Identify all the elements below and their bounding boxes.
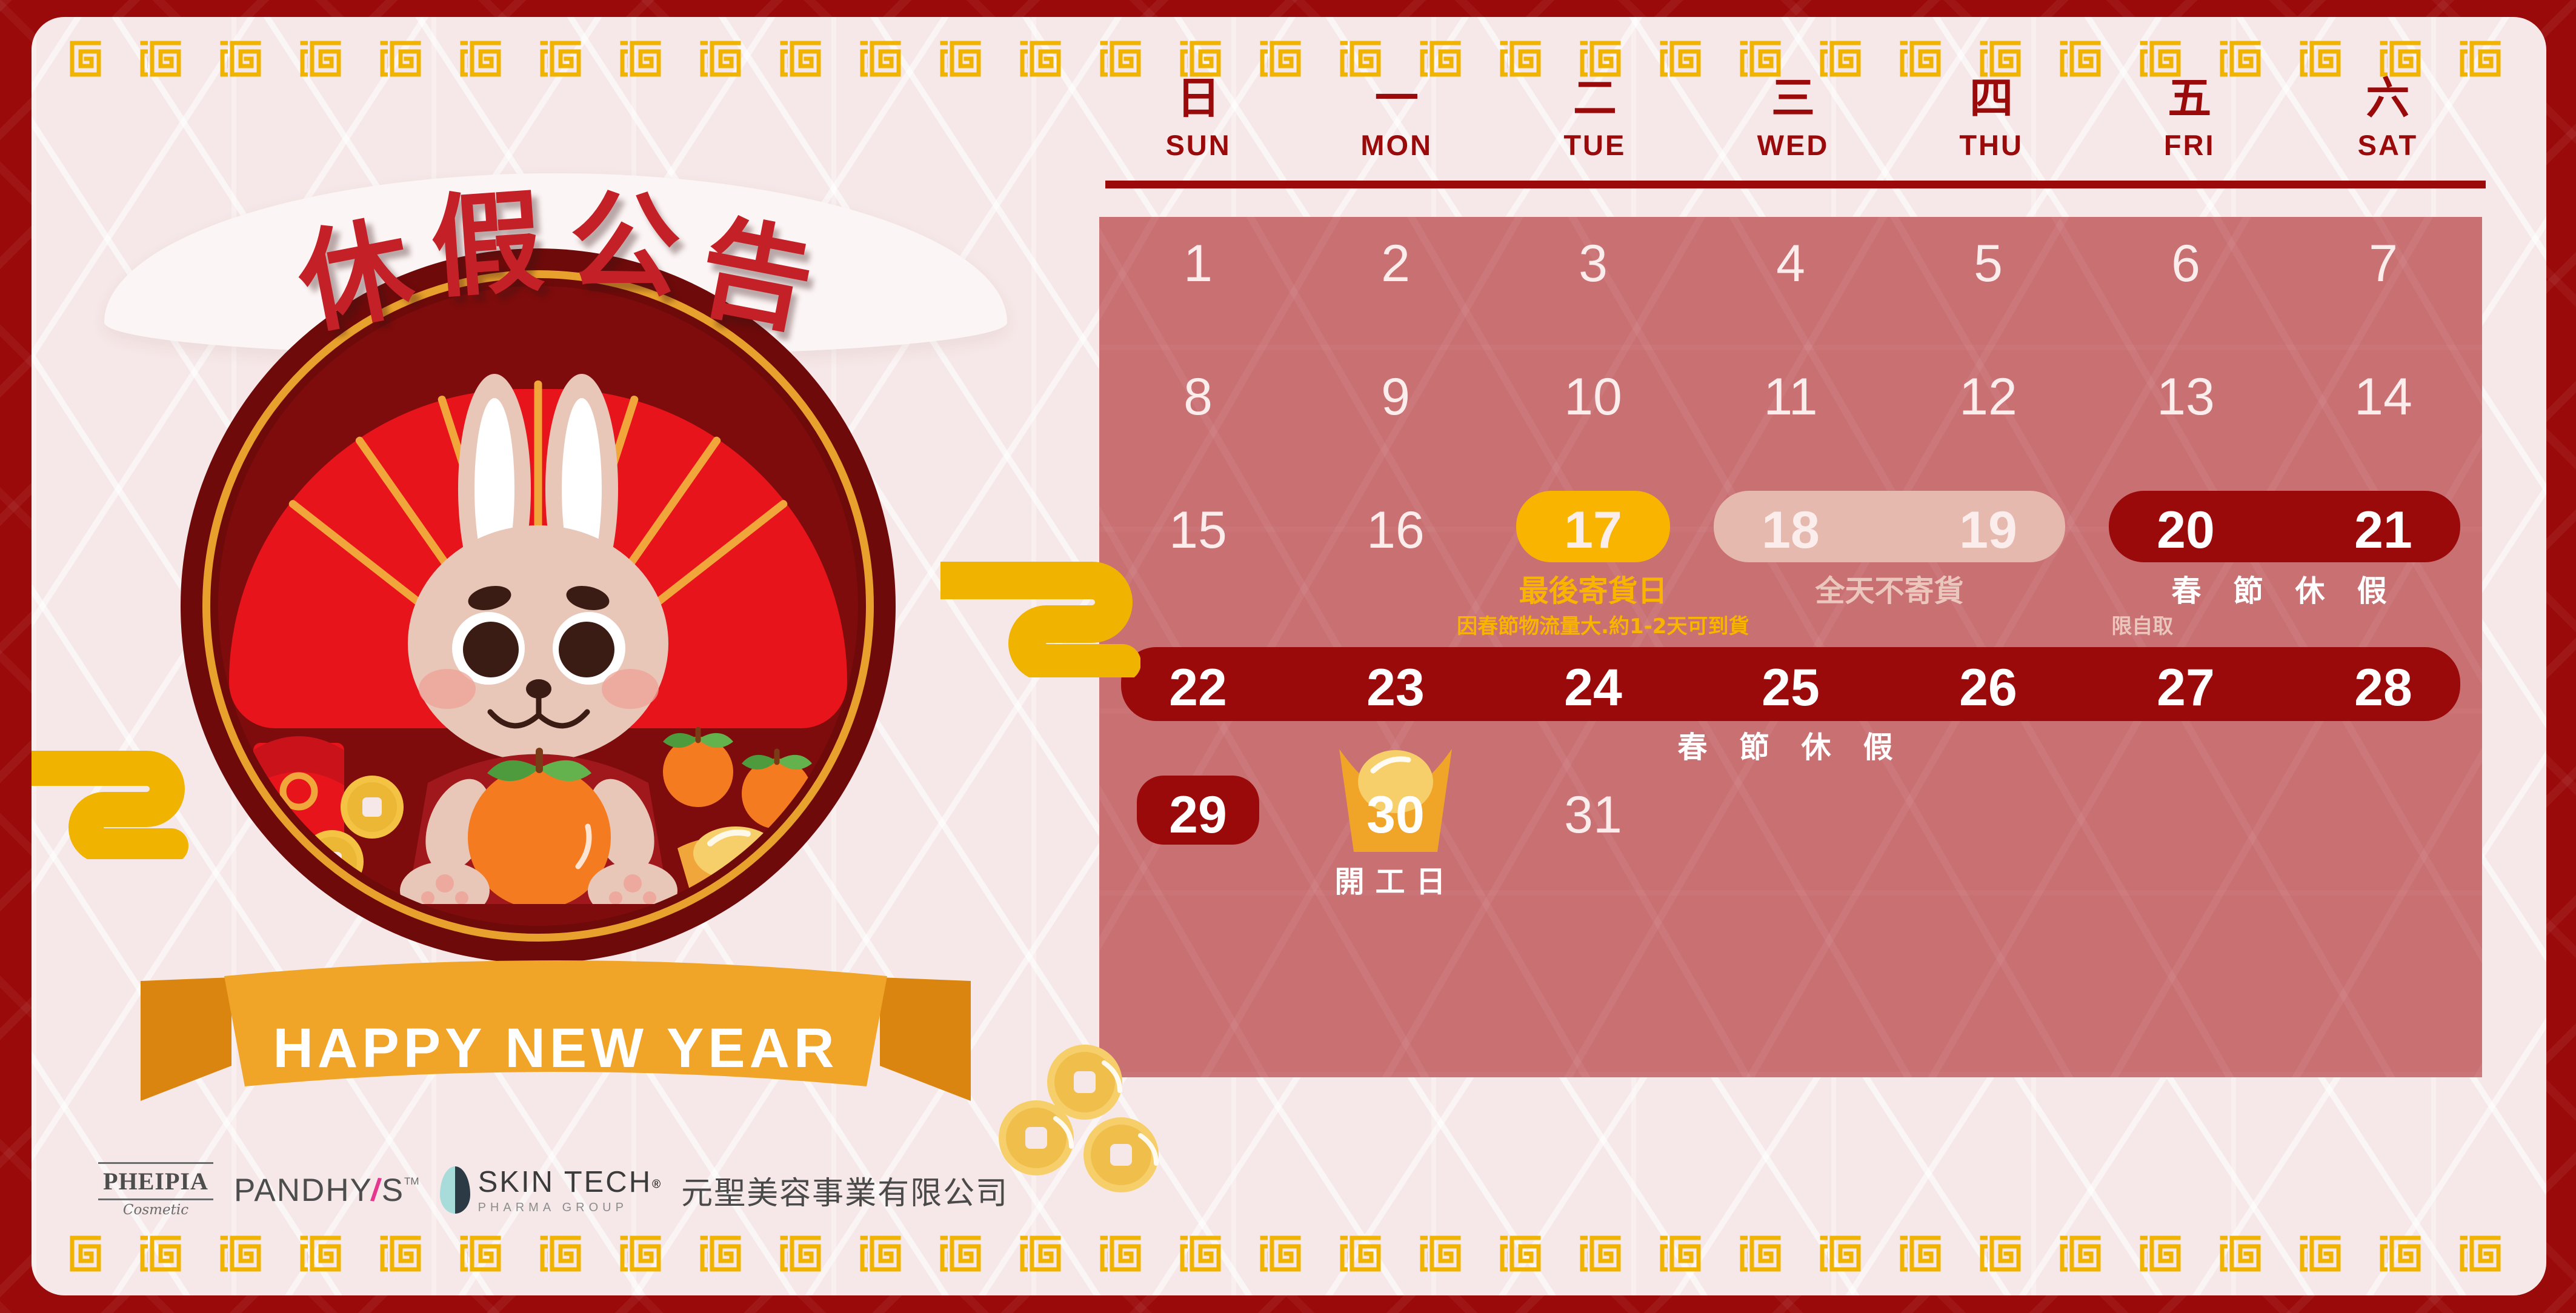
header-cn-thu: 四 (1892, 75, 2091, 121)
calendar-header-thu: 四THU (1892, 75, 2091, 162)
calendar-day-21[interactable]: 21 (2285, 502, 2482, 559)
logo-skintech: SKIN TECH® PHARMA GROUP (440, 1165, 661, 1215)
calendar-day-12[interactable]: 12 (1889, 368, 2087, 426)
calendar-day-27[interactable]: 27 (2087, 659, 2285, 717)
calendar: 日SUN一MON二TUE三WED四THU五FRI六SAT 12345678910… (1099, 17, 2487, 1295)
calendar-day-9[interactable]: 9 (1297, 368, 1494, 426)
calendar-day-14[interactable]: 14 (2285, 368, 2482, 426)
calendar-header-mon: 一MON (1297, 75, 1496, 162)
calendar-day-31[interactable]: 31 (1494, 786, 1692, 844)
calendar-header-tue: 二TUE (1496, 75, 1694, 162)
header-cn-sat: 六 (2289, 75, 2487, 121)
skintech-sub: PHARMA GROUP (478, 1199, 661, 1215)
header-en-wed: WED (1694, 121, 1892, 162)
title-char-3: 公 (565, 185, 684, 304)
pheipia-name: PHEIPIA (103, 1164, 208, 1198)
note-last-shipping-sub: 因春節物流量大.約1-2天可到貨 (1208, 610, 1998, 639)
header-cn-tue: 二 (1496, 75, 1694, 121)
rabbit-medallion (181, 248, 896, 963)
cloud-decoration-right (940, 556, 1140, 677)
title-char-2: 假 (427, 185, 546, 304)
calendar-week-row: 891011121314 (1099, 368, 2482, 426)
calendar-day-grid: 891011121314 (1099, 368, 2482, 426)
gold-coins-decoration (995, 1041, 1177, 1198)
calendar-day-17[interactable]: 17 (1494, 502, 1692, 559)
calendar-day-empty (2087, 786, 2285, 844)
brand-logo-strip: PHEIPIA Cosmetic PANDHY / S TM SKIN TECH… (98, 1162, 1008, 1218)
title-char-1: 休 (290, 210, 421, 341)
calendar-week-row: 293031 (1099, 786, 2482, 844)
calendar-day-26[interactable]: 26 (1889, 659, 2087, 717)
header-en-mon: MON (1297, 121, 1496, 162)
calendar-day-13[interactable]: 13 (2087, 368, 2285, 426)
holiday-announcement-poster: 休 假 公 告 (0, 0, 2576, 1313)
calendar-header-sat: 六SAT (2289, 75, 2487, 162)
left-panel: 休 假 公 告 (32, 17, 1068, 1295)
calendar-day-7[interactable]: 7 (2285, 235, 2482, 293)
calendar-weeks: 1234567891011121314151617181920212223242… (1099, 217, 2482, 1077)
calendar-day-19[interactable]: 19 (1889, 502, 2087, 559)
skintech-registered-icon: ® (652, 1178, 661, 1191)
calendar-day-grid: 15161718192021 (1099, 502, 2482, 559)
oranges-and-ingot (642, 720, 842, 902)
logo-pheipia: PHEIPIA Cosmetic (98, 1162, 213, 1218)
calendar-day-8[interactable]: 8 (1099, 368, 1297, 426)
page-title: 休 假 公 告 (122, 185, 989, 297)
calendar-week-row: 15161718192021 (1099, 502, 2482, 559)
calendar-day-grid: 22232425262728 (1099, 659, 2482, 717)
calendar-day-10[interactable]: 10 (1494, 368, 1692, 426)
calendar-header-row: 日SUN一MON二TUE三WED四THU五FRI六SAT (1099, 75, 2487, 162)
calendar-day-18[interactable]: 18 (1692, 502, 1889, 559)
header-en-tue: TUE (1496, 121, 1694, 162)
calendar-day-empty (1692, 786, 1889, 844)
calendar-day-empty (2285, 786, 2482, 844)
calendar-header-wed: 三WED (1694, 75, 1892, 162)
calendar-day-15[interactable]: 15 (1099, 502, 1297, 559)
calendar-day-empty (1889, 786, 2087, 844)
note-holiday-week3: 春 節 休 假 (2087, 567, 2482, 610)
header-en-thu: THU (1892, 121, 2091, 162)
header-en-sat: SAT (2289, 121, 2487, 162)
calendar-body: 1234567891011121314151617181920212223242… (1099, 217, 2482, 1077)
calendar-day-20[interactable]: 20 (2087, 502, 2285, 559)
calendar-header-sun: 日SUN (1099, 75, 1297, 162)
calendar-week-row: 1234567 (1099, 235, 2482, 293)
calendar-header-fri: 五FRI (2091, 75, 2289, 162)
skintech-name: SKIN TECH (478, 1166, 652, 1198)
logo-pandhys: PANDHY / S TM (234, 1172, 419, 1209)
note-holiday-week4: 春 節 休 假 (1593, 723, 1988, 766)
calendar-day-5[interactable]: 5 (1889, 235, 2087, 293)
header-cn-mon: 一 (1297, 75, 1496, 121)
calendar-day-1[interactable]: 1 (1099, 235, 1297, 293)
calendar-day-28[interactable]: 28 (2285, 659, 2482, 717)
calendar-day-4[interactable]: 4 (1692, 235, 1889, 293)
calendar-day-grid: 1234567 (1099, 235, 2482, 293)
header-cn-sun: 日 (1099, 75, 1297, 121)
calendar-day-25[interactable]: 25 (1692, 659, 1889, 717)
calendar-week-row: 22232425262728 (1099, 659, 2482, 717)
note-last-shipping: 最後寄貨日 (1494, 567, 1692, 610)
calendar-day-3[interactable]: 3 (1494, 235, 1692, 293)
pheipia-tagline: Cosmetic (123, 1200, 188, 1218)
red-envelope-and-coins (247, 706, 429, 888)
medallion-inner (218, 286, 858, 926)
calendar-day-2[interactable]: 2 (1297, 235, 1494, 293)
poster-card: 休 假 公 告 (32, 17, 2546, 1295)
calendar-day-30[interactable]: 30 (1297, 786, 1494, 844)
header-en-fri: FRI (2091, 121, 2289, 162)
title-char-4: 告 (691, 210, 822, 341)
note-work-start: 開工日 (1297, 858, 1494, 901)
calendar-day-29[interactable]: 29 (1099, 786, 1297, 844)
happy-new-year-ribbon: HAPPY NEW YEAR (135, 959, 977, 1111)
company-name: 元聖美容事業有限公司 (681, 1168, 1008, 1213)
pandhys-name: PANDHY (234, 1172, 373, 1209)
note-no-shipping: 全天不寄貨 (1692, 567, 2087, 610)
calendar-day-11[interactable]: 11 (1692, 368, 1889, 426)
cloud-decoration-left (32, 750, 189, 859)
skintech-leaf-icon (440, 1166, 470, 1214)
header-en-sun: SUN (1099, 121, 1297, 162)
calendar-day-24[interactable]: 24 (1494, 659, 1692, 717)
calendar-day-23[interactable]: 23 (1297, 659, 1494, 717)
header-cn-wed: 三 (1694, 75, 1892, 121)
pandhys-tail: S (382, 1172, 404, 1209)
calendar-day-6[interactable]: 6 (2087, 235, 2285, 293)
header-cn-fri: 五 (2091, 75, 2289, 121)
calendar-header-rule (1105, 181, 2486, 188)
ribbon-label: HAPPY NEW YEAR (273, 1017, 838, 1080)
calendar-day-grid: 293031 (1099, 786, 2482, 844)
note-no-shipping-sub: 限自取 (1945, 610, 2340, 639)
pandhys-trademark: TM (404, 1175, 419, 1188)
calendar-day-16[interactable]: 16 (1297, 502, 1494, 559)
